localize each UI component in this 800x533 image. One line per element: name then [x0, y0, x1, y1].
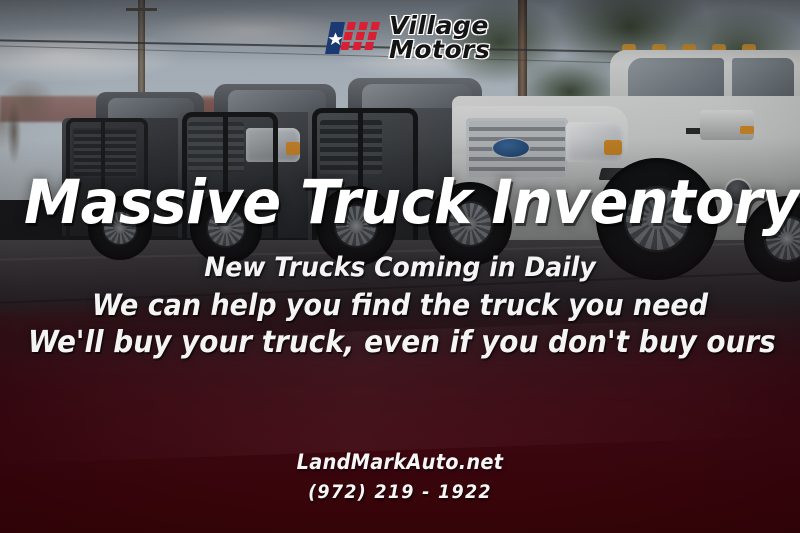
dealership-promo-banner: Village Motors Massive Truck Inventory! …: [0, 0, 800, 533]
subheading-new-trucks: New Trucks Coming in Daily: [28, 252, 772, 283]
texas-flag-stripes-icon: [325, 18, 381, 58]
village-motors-logo[interactable]: Village Motors: [325, 14, 490, 61]
subheading-help-find: We can help you find the truck you need: [28, 288, 772, 322]
headline: Massive Truck Inventory!: [24, 172, 776, 233]
logo-word-motors: Motors: [389, 38, 490, 61]
subheading-buy-your-truck: We'll buy your truck, even if you don't …: [28, 325, 772, 360]
logo-word-village: Village: [389, 14, 490, 37]
logo-wordmark: Village Motors: [389, 14, 490, 61]
website-link[interactable]: LandMarkAuto.net: [32, 450, 768, 474]
phone-number[interactable]: (972) 219 - 1922: [32, 481, 768, 503]
